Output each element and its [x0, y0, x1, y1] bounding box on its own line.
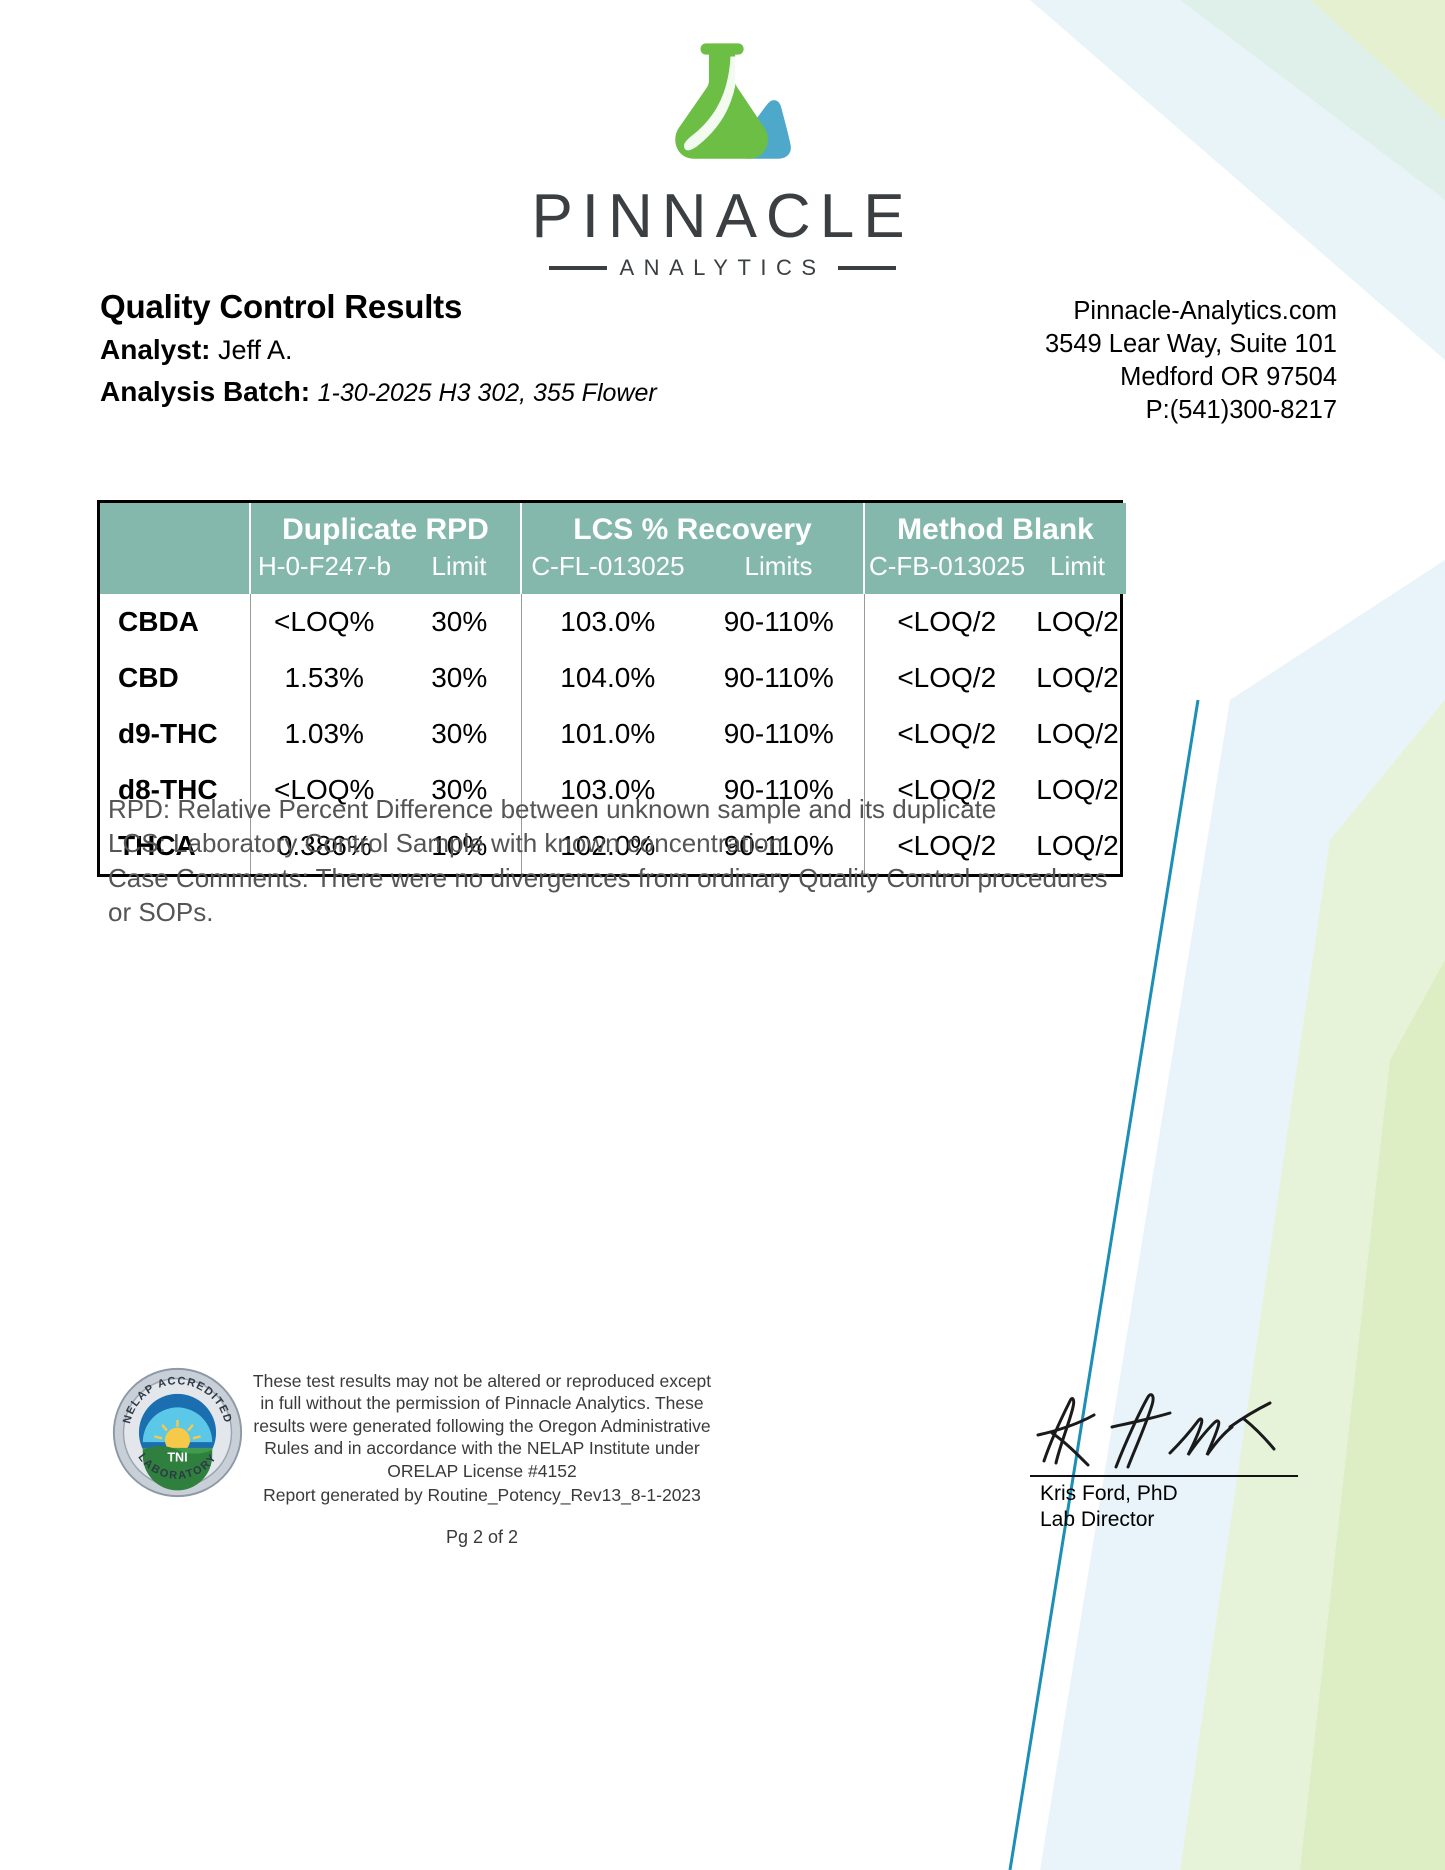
cell-rpd: 1.53% — [250, 650, 398, 706]
subheader-blank-limit: Limit — [1029, 549, 1126, 594]
cell-blank-limit: LOQ/2 — [1029, 706, 1126, 762]
table-subheader-row: H-0-F247-b Limit C-FL-013025 Limits C-FB… — [100, 549, 1126, 594]
cell-rpd-limit: 30% — [398, 706, 521, 762]
contact-block: Pinnacle-Analytics.com 3549 Lear Way, Su… — [1045, 295, 1337, 427]
cell-blank-limit: LOQ/2 — [1029, 594, 1126, 650]
cell-lcs-limits: 90-110% — [694, 650, 864, 706]
group-header-duplicate-rpd: Duplicate RPD — [250, 503, 521, 549]
subheader-lcs-limits: Limits — [694, 549, 864, 594]
flask-icon — [648, 34, 798, 184]
nelap-accredited-seal-icon: TNI NELAP ACCREDITED LABORATORY — [110, 1365, 245, 1500]
table-group-header-row: Duplicate RPD LCS % Recovery Method Blan… — [100, 503, 1126, 549]
contact-website[interactable]: Pinnacle-Analytics.com — [1045, 295, 1337, 328]
contact-phone: P:(541)300-8217 — [1045, 394, 1337, 427]
cell-lcs-limits: 90-110% — [694, 594, 864, 650]
table-head: Duplicate RPD LCS % Recovery Method Blan… — [100, 503, 1126, 594]
subheader-blank — [100, 549, 250, 594]
batch-label: Analysis Batch: — [100, 376, 310, 407]
page-footer: TNI NELAP ACCREDITED LABORATORY These te… — [0, 1355, 1445, 1555]
logo-rule-left — [549, 266, 607, 270]
group-header-lcs-recovery: LCS % Recovery — [521, 503, 864, 549]
company-logo: PINNACLE ANALYTICS — [0, 34, 1445, 281]
subheader-blank-sample-id: C-FB-013025 — [864, 549, 1029, 594]
cell-lcs-limits: 90-110% — [694, 706, 864, 762]
cell-analyte: CBD — [100, 650, 250, 706]
notes-block: RPD: Relative Percent Difference between… — [108, 792, 1108, 929]
analyst-value: Jeff A. — [218, 335, 293, 365]
note-case-comments: Case Comments: There were no divergences… — [108, 861, 1108, 930]
cell-lcs: 101.0% — [521, 706, 694, 762]
group-header-method-blank: Method Blank — [864, 503, 1126, 549]
note-rpd: RPD: Relative Percent Difference between… — [108, 792, 1108, 826]
cell-lcs: 103.0% — [521, 594, 694, 650]
report-generated-text: Report generated by Routine_Potency_Rev1… — [252, 1485, 712, 1506]
batch-line: Analysis Batch: 1-30-2025 H3 302, 355 Fl… — [100, 374, 657, 410]
table-row: d9-THC 1.03% 30% 101.0% 90-110% <LOQ/2 L… — [100, 706, 1126, 762]
batch-value: 1-30-2025 H3 302, 355 Flower — [318, 379, 657, 407]
contact-city: Medford OR 97504 — [1045, 361, 1337, 394]
cell-blank: <LOQ/2 — [864, 650, 1029, 706]
signer-name: Kris Ford, PhD — [1040, 1481, 1178, 1507]
subheader-dup-limit: Limit — [398, 549, 521, 594]
subheader-dup-sample-id: H-0-F247-b — [250, 549, 398, 594]
page-number: Pg 2 of 2 — [252, 1527, 712, 1548]
disclaimer-text: These test results may not be altered or… — [252, 1370, 712, 1482]
logo-wordmark: PINNACLE — [531, 186, 913, 248]
cell-blank-limit: LOQ/2 — [1029, 650, 1126, 706]
cell-blank: <LOQ/2 — [864, 594, 1029, 650]
note-lcs: LCS: Laboratory Control Sample with know… — [108, 826, 1108, 860]
cell-rpd: <LOQ% — [250, 594, 398, 650]
table-row: CBD 1.53% 30% 104.0% 90-110% <LOQ/2 LOQ/… — [100, 650, 1126, 706]
signer-title: Lab Director — [1040, 1507, 1178, 1533]
cell-analyte: d9-THC — [100, 706, 250, 762]
analyst-line: Analyst: Jeff A. — [100, 332, 657, 368]
cell-lcs: 104.0% — [521, 650, 694, 706]
page-title: Quality Control Results — [100, 287, 657, 327]
logo-rule-right — [838, 266, 896, 270]
signer-block: Kris Ford, PhD Lab Director — [1040, 1481, 1178, 1534]
cell-rpd-limit: 30% — [398, 650, 521, 706]
table-row: CBDA <LOQ% 30% 103.0% 90-110% <LOQ/2 LOQ… — [100, 594, 1126, 650]
svg-text:TNI: TNI — [167, 1450, 187, 1464]
analyst-label: Analyst: — [100, 334, 210, 365]
header-left: Quality Control Results Analyst: Jeff A.… — [100, 287, 657, 410]
contact-street: 3549 Lear Way, Suite 101 — [1045, 328, 1337, 361]
cell-analyte: CBDA — [100, 594, 250, 650]
group-header-blank — [100, 503, 250, 549]
cell-blank: <LOQ/2 — [864, 706, 1029, 762]
signature-line — [1030, 1475, 1298, 1477]
signature-icon — [1030, 1383, 1320, 1483]
logo-tagline: ANALYTICS — [619, 255, 825, 281]
cell-rpd: 1.03% — [250, 706, 398, 762]
subheader-lcs-sample-id: C-FL-013025 — [521, 549, 694, 594]
cell-rpd-limit: 30% — [398, 594, 521, 650]
